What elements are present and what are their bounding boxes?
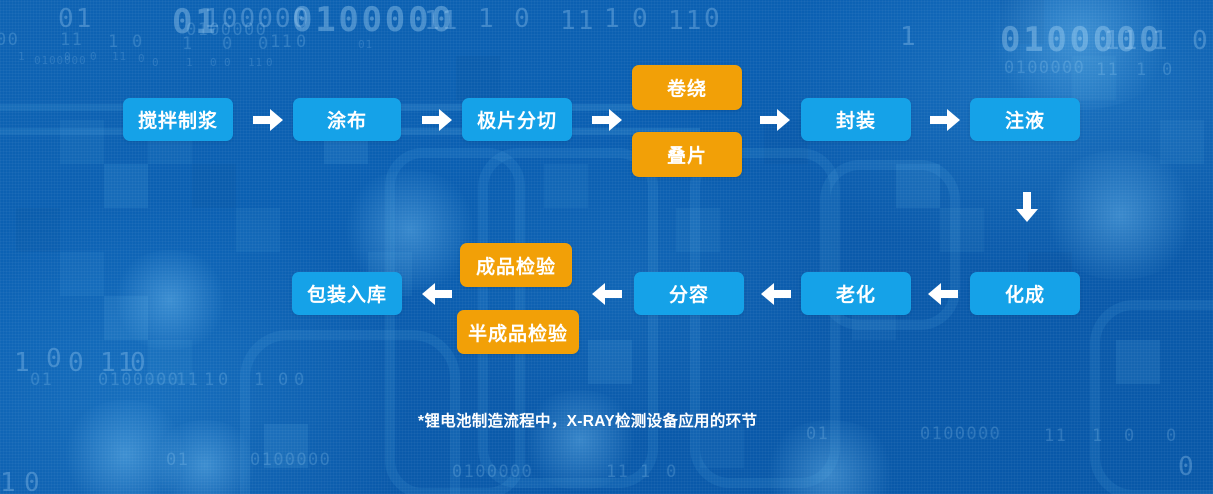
binary-digit-text: 0	[266, 56, 274, 69]
binary-digit-text: 0	[1124, 426, 1136, 446]
mosaic-square	[192, 164, 236, 208]
binary-digit-text: 01	[358, 38, 373, 51]
binary-digit-text: 0100000	[34, 54, 87, 67]
binary-digit-text: 1	[1092, 426, 1104, 446]
flow-node-label: 极片分切	[477, 106, 557, 133]
binary-digit-text: 01	[166, 450, 189, 470]
flow-node-label: 化成	[1005, 280, 1045, 307]
binary-digit-text: 1	[18, 50, 26, 63]
flow-node-grading[interactable]: 分容	[634, 272, 744, 315]
flow-node-slitting[interactable]: 极片分切	[462, 98, 572, 141]
flow-node-final-insp[interactable]: 成品检验	[460, 243, 572, 287]
binary-digit-text: 11	[1096, 60, 1119, 80]
binary-digit-text: 0	[138, 52, 146, 65]
infographic-canvas: 0101100000010000011101110110101000001110…	[0, 0, 1213, 494]
binary-digit-text: 0	[296, 32, 308, 52]
flow-node-stacking[interactable]: 叠片	[632, 132, 742, 177]
flow-node-label: 涂布	[327, 106, 367, 133]
mosaic-square	[1160, 120, 1204, 164]
binary-digit-text: 0	[1166, 426, 1178, 446]
flow-node-electrolyte[interactable]: 注液	[970, 98, 1080, 141]
binary-digit-text: 0	[90, 50, 98, 63]
binary-digit-text: 11	[424, 6, 459, 36]
flow-node-label: 分容	[669, 280, 709, 307]
flow-node-packaging[interactable]: 封装	[801, 98, 911, 141]
arrow-electrolyte-to-formation	[1016, 192, 1038, 222]
binary-digit-text: 0100000	[452, 462, 533, 482]
binary-digit-text: 0100000	[250, 450, 331, 470]
binary-digit-text: 11	[248, 56, 263, 69]
binary-digit-text: 0	[224, 56, 232, 69]
binary-digit-text: 0100000	[98, 370, 179, 390]
flow-node-coating[interactable]: 涂布	[293, 98, 401, 141]
caption-note: *锂电池制造流程中，X-RAY检测设备应用的环节	[418, 409, 757, 431]
binary-digit-text: 0	[152, 56, 160, 69]
binary-digit-text: 1	[254, 370, 266, 390]
binary-digit-text: 1	[640, 462, 652, 482]
mosaic-square	[60, 252, 104, 296]
glow-blob	[1040, 150, 1200, 280]
binary-digit-text: 11	[112, 50, 127, 63]
binary-digit-text: 0	[68, 348, 86, 378]
binary-digit-text: 0	[704, 4, 722, 34]
flow-node-mixing[interactable]: 搅拌制浆	[123, 98, 233, 141]
mosaic-square	[104, 164, 148, 208]
binary-digit-text: 0	[222, 34, 234, 54]
flow-node-label: 搅拌制浆	[138, 106, 218, 133]
glow-blob	[110, 250, 230, 350]
binary-digit-text: 0	[258, 34, 270, 54]
binary-digit-text: 01	[806, 424, 829, 444]
flow-node-label: 叠片	[667, 141, 707, 168]
flow-node-label: 老化	[836, 280, 876, 307]
binary-digit-text: 0	[132, 32, 144, 52]
binary-digit-text: 1	[108, 32, 120, 52]
arrow-winding-to-packaging	[760, 109, 790, 131]
binary-digit-text: 11	[270, 32, 293, 52]
flow-node-label: 封装	[836, 106, 876, 133]
binary-digit-text: 1	[182, 34, 194, 54]
binary-digit-text: 0	[210, 56, 218, 69]
binary-digit-text: 0	[1192, 26, 1210, 56]
binary-digit-text: 1	[900, 22, 918, 52]
binary-digit-text: 01	[30, 370, 53, 390]
arrow-coating-to-slitting	[422, 109, 452, 131]
binary-digit-text: 1	[478, 4, 496, 34]
binary-digit-text: 1	[0, 468, 18, 494]
flow-node-aging[interactable]: 老化	[801, 272, 911, 315]
flow-rail	[0, 104, 130, 111]
binary-digit-text: 1	[186, 56, 194, 69]
arrow-packaging-to-electrolyte	[930, 109, 960, 131]
binary-digit-text: 1	[1152, 26, 1170, 56]
binary-digit-text: 0100000	[920, 424, 1001, 444]
binary-digit-text: 11	[606, 462, 629, 482]
binary-digit-text: 11	[1104, 26, 1139, 56]
arrow-mixing-to-coating	[253, 109, 283, 131]
flow-rail	[0, 128, 130, 135]
flow-node-semi-insp[interactable]: 半成品检验	[457, 310, 579, 354]
mosaic-square	[60, 120, 104, 164]
binary-digit-text: 1	[1136, 60, 1148, 80]
binary-digit-text: 11	[560, 6, 595, 36]
binary-digit-text: 11	[176, 370, 199, 390]
flow-node-label: 注液	[1005, 106, 1045, 133]
flow-node-label: 成品检验	[476, 252, 556, 279]
binary-digit-text: 0100000	[1004, 58, 1085, 78]
binary-digit-text: 0	[24, 468, 42, 494]
binary-digit-text: 1	[204, 370, 216, 390]
flow-node-warehousing[interactable]: 包装入库	[292, 272, 402, 315]
flow-node-label: 包装入库	[307, 280, 387, 307]
arrow-formation-to-aging	[928, 283, 958, 305]
arrow-grading-to-inspection	[592, 283, 622, 305]
binary-digit-text: 0	[514, 4, 532, 34]
binary-digit-text: 11	[60, 30, 83, 50]
arrow-inspection-to-warehouse	[422, 283, 452, 305]
flow-node-winding[interactable]: 卷绕	[632, 65, 742, 110]
binary-digit-text: 0	[218, 370, 230, 390]
binary-digit-text: 00	[0, 30, 19, 50]
flow-node-formation[interactable]: 化成	[970, 272, 1080, 315]
arrow-aging-to-grading	[761, 283, 791, 305]
flow-node-label: 卷绕	[667, 74, 707, 101]
binary-digit-text: 0	[294, 370, 306, 390]
mosaic-square	[236, 208, 280, 252]
mosaic-square	[456, 56, 500, 100]
binary-digit-text: 11	[1044, 426, 1067, 446]
binary-digit-text: 0	[1162, 60, 1174, 80]
binary-digit-text: 0	[1178, 452, 1196, 482]
mosaic-square	[16, 208, 60, 252]
binary-digit-text: 0	[278, 370, 290, 390]
arrow-slitting-to-winding	[592, 109, 622, 131]
flow-node-label: 半成品检验	[468, 319, 568, 346]
binary-digit-text: 1	[604, 4, 622, 34]
binary-digit-text: 11	[668, 6, 703, 36]
binary-digit-text: 0	[632, 4, 650, 34]
binary-digit-text: 0	[64, 50, 72, 63]
binary-digit-text: 0	[666, 462, 678, 482]
